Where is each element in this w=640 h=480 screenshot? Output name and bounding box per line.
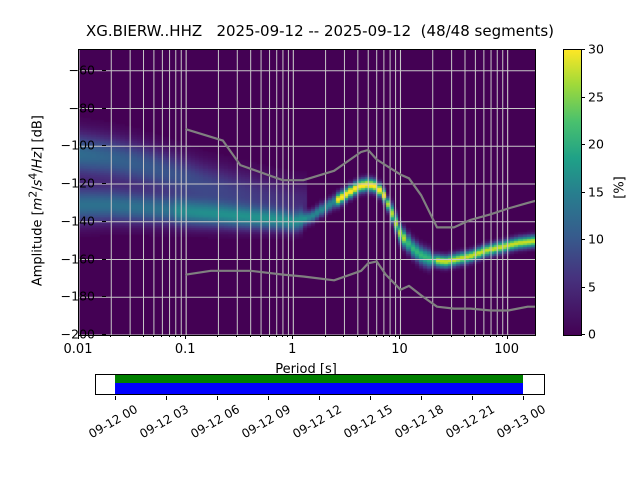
colorbar-label: [%] (613, 128, 628, 248)
x-tick (175, 335, 176, 337)
timeline-tick-label: 09-12 06 (181, 402, 242, 445)
y-tick-label: −100 (61, 138, 95, 153)
y-tick-label: −60 (69, 62, 95, 77)
timeline-psd-segments-bar (115, 383, 523, 394)
timeline-tick (268, 396, 269, 400)
x-tick-label: 100 (494, 342, 519, 357)
x-tick (185, 335, 186, 339)
y-tick (102, 70, 106, 71)
x-tick (180, 335, 181, 337)
x-tick-label: 10 (391, 342, 408, 357)
timeline-tick (370, 396, 371, 400)
x-tick (169, 335, 170, 337)
x-tick-label: 0.01 (64, 342, 93, 357)
x-tick (389, 335, 390, 337)
x-tick (78, 335, 79, 339)
colorbar-tick (581, 144, 585, 145)
x-tick (357, 335, 358, 337)
page-title: XG.BIERW..HHZ 2025-09-12 -- 2025-09-12 (… (0, 22, 640, 40)
timeline-tick (217, 396, 218, 400)
x-tick (399, 335, 400, 339)
x-tick (287, 335, 288, 337)
y-tick-label: −180 (61, 289, 95, 304)
y-tick-label: −80 (69, 100, 95, 115)
timeline-tick-label: 09-13 00 (487, 402, 548, 445)
x-tick (490, 335, 491, 337)
x-tick (325, 335, 326, 337)
y-tick (102, 334, 106, 335)
ppsd-heatmap (79, 50, 535, 335)
timeline-tick-label: 09-12 18 (386, 402, 447, 445)
x-tick (502, 335, 503, 337)
timeline-tick-label: 09-12 15 (334, 402, 395, 445)
x-tick (474, 335, 475, 337)
x-tick (376, 335, 377, 337)
timeline-tick-label: 09-12 09 (232, 402, 293, 445)
y-tick-label: −140 (61, 213, 95, 228)
timeline-tick (166, 396, 167, 400)
timeline-tick-label: 09-12 12 (283, 402, 344, 445)
timeline-axes (95, 374, 545, 395)
y-tick (102, 259, 106, 260)
y-tick-label: −200 (61, 327, 95, 342)
colorbar-tick-label: 20 (588, 137, 604, 152)
x-tick (395, 335, 396, 337)
timeline-tick (472, 396, 473, 400)
timeline-tick (523, 396, 524, 400)
x-tick (383, 335, 384, 337)
x-tick (507, 335, 508, 339)
y-tick (102, 145, 106, 146)
ppsd-axes (78, 49, 536, 336)
colorbar-tick-label: 25 (588, 89, 604, 104)
x-tick (236, 335, 237, 337)
x-tick (269, 335, 270, 337)
colorbar-tick (581, 334, 585, 335)
peterson-noise-model-curves (79, 50, 535, 335)
x-tick (129, 335, 130, 337)
y-tick (102, 108, 106, 109)
x-tick (367, 335, 368, 337)
colorbar-tick-label: 0 (588, 327, 596, 342)
x-tick (343, 335, 344, 337)
x-tick (217, 335, 218, 337)
colorbar-tick (581, 287, 585, 288)
x-tick (464, 335, 465, 337)
y-tick (102, 183, 106, 184)
x-tick (161, 335, 162, 337)
x-tick (153, 335, 154, 337)
x-tick (260, 335, 261, 337)
x-tick (292, 335, 293, 339)
x-tick (143, 335, 144, 337)
timeline-tick-label: 09-12 21 (436, 402, 497, 445)
x-tick (483, 335, 484, 337)
x-tick-label: 1 (288, 342, 296, 357)
colorbar (563, 49, 582, 336)
y-tick (102, 296, 106, 297)
timeline-tick-label: 09-12 03 (130, 402, 191, 445)
colorbar-tick-label: 10 (588, 232, 604, 247)
x-tick (276, 335, 277, 337)
timeline-coverage (96, 375, 544, 394)
colorbar-tick (581, 49, 585, 50)
y-tick-label: −120 (61, 176, 95, 191)
colorbar-tick-label: 5 (588, 279, 596, 294)
colorbar-tick (581, 239, 585, 240)
x-tick-label: 0.1 (175, 342, 196, 357)
y-axis-label: Amplitude [m2/s4/Hz] [dB] (26, 71, 45, 331)
colorbar-tick-label: 30 (588, 42, 604, 57)
timeline-tick (115, 396, 116, 400)
timeline-tick (319, 396, 320, 400)
x-tick (496, 335, 497, 337)
timeline-tick (421, 396, 422, 400)
ppsd-figure: XG.BIERW..HHZ 2025-09-12 -- 2025-09-12 (… (0, 0, 640, 480)
x-tick (282, 335, 283, 337)
x-tick (451, 335, 452, 337)
y-tick (102, 221, 106, 222)
timeline-data-coverage-bar (115, 375, 523, 383)
timeline-tick-label: 09-12 00 (79, 402, 140, 445)
x-tick (110, 335, 111, 337)
y-tick-label: −160 (61, 251, 95, 266)
colorbar-tick-label: 15 (588, 184, 604, 199)
colorbar-tick (581, 97, 585, 98)
colorbar-tick (581, 192, 585, 193)
x-tick (432, 335, 433, 337)
x-tick (250, 335, 251, 337)
